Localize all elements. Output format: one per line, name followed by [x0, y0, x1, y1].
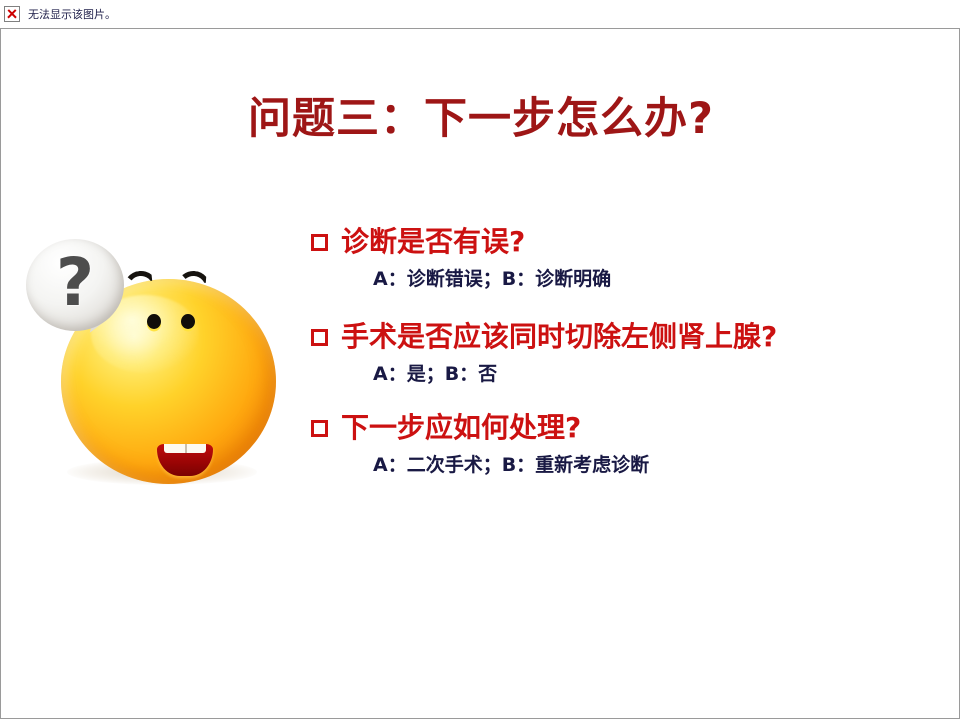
confused-face-clipart: ?	[19, 229, 299, 529]
question-headline-text: 诊断是否有误?	[341, 225, 525, 259]
hollow-square-bullet-icon	[311, 420, 328, 437]
list-item: 手术是否应该同时切除左侧肾上腺? A：是；B：否	[311, 320, 931, 387]
broken-image-notice: 无法显示该图片。	[0, 0, 116, 28]
question-answer-text: A：是；B：否	[311, 363, 931, 387]
page-title: 问题三：下一步怎么办?	[1, 84, 960, 146]
question-headline-row: 手术是否应该同时切除左侧肾上腺?	[311, 320, 931, 354]
spacer	[311, 395, 931, 411]
broken-image-icon	[4, 6, 20, 22]
eyebrow-right-icon	[176, 270, 211, 289]
question-answer-text: A：诊断错误；B：诊断明确	[311, 268, 931, 292]
hollow-square-bullet-icon	[311, 329, 328, 346]
hollow-square-bullet-icon	[311, 234, 328, 251]
question-headline-text: 手术是否应该同时切除左侧肾上腺?	[341, 320, 777, 354]
eye-left-icon	[147, 314, 161, 329]
teeth	[164, 444, 206, 453]
broken-image-label: 无法显示该图片。	[28, 9, 116, 20]
eyebrow-left-icon	[122, 269, 158, 289]
question-headline-row: 诊断是否有误?	[311, 225, 931, 259]
question-headline-row: 下一步应如何处理?	[311, 411, 931, 445]
slide-canvas: 问题三：下一步怎么办? ? 诊断是否有误? A：诊断错误；B：诊断明确	[0, 28, 960, 719]
spacer	[311, 300, 931, 320]
list-item: 下一步应如何处理? A：二次手术；B：重新考虑诊断	[311, 411, 931, 478]
eye-right-icon	[181, 314, 195, 329]
question-headline-text: 下一步应如何处理?	[341, 411, 581, 445]
question-mark-icon: ?	[26, 239, 124, 331]
question-list: 诊断是否有误? A：诊断错误；B：诊断明确 手术是否应该同时切除左侧肾上腺? A…	[311, 225, 931, 486]
list-item: 诊断是否有误? A：诊断错误；B：诊断明确	[311, 225, 931, 292]
question-answer-text: A：二次手术；B：重新考虑诊断	[311, 454, 931, 478]
